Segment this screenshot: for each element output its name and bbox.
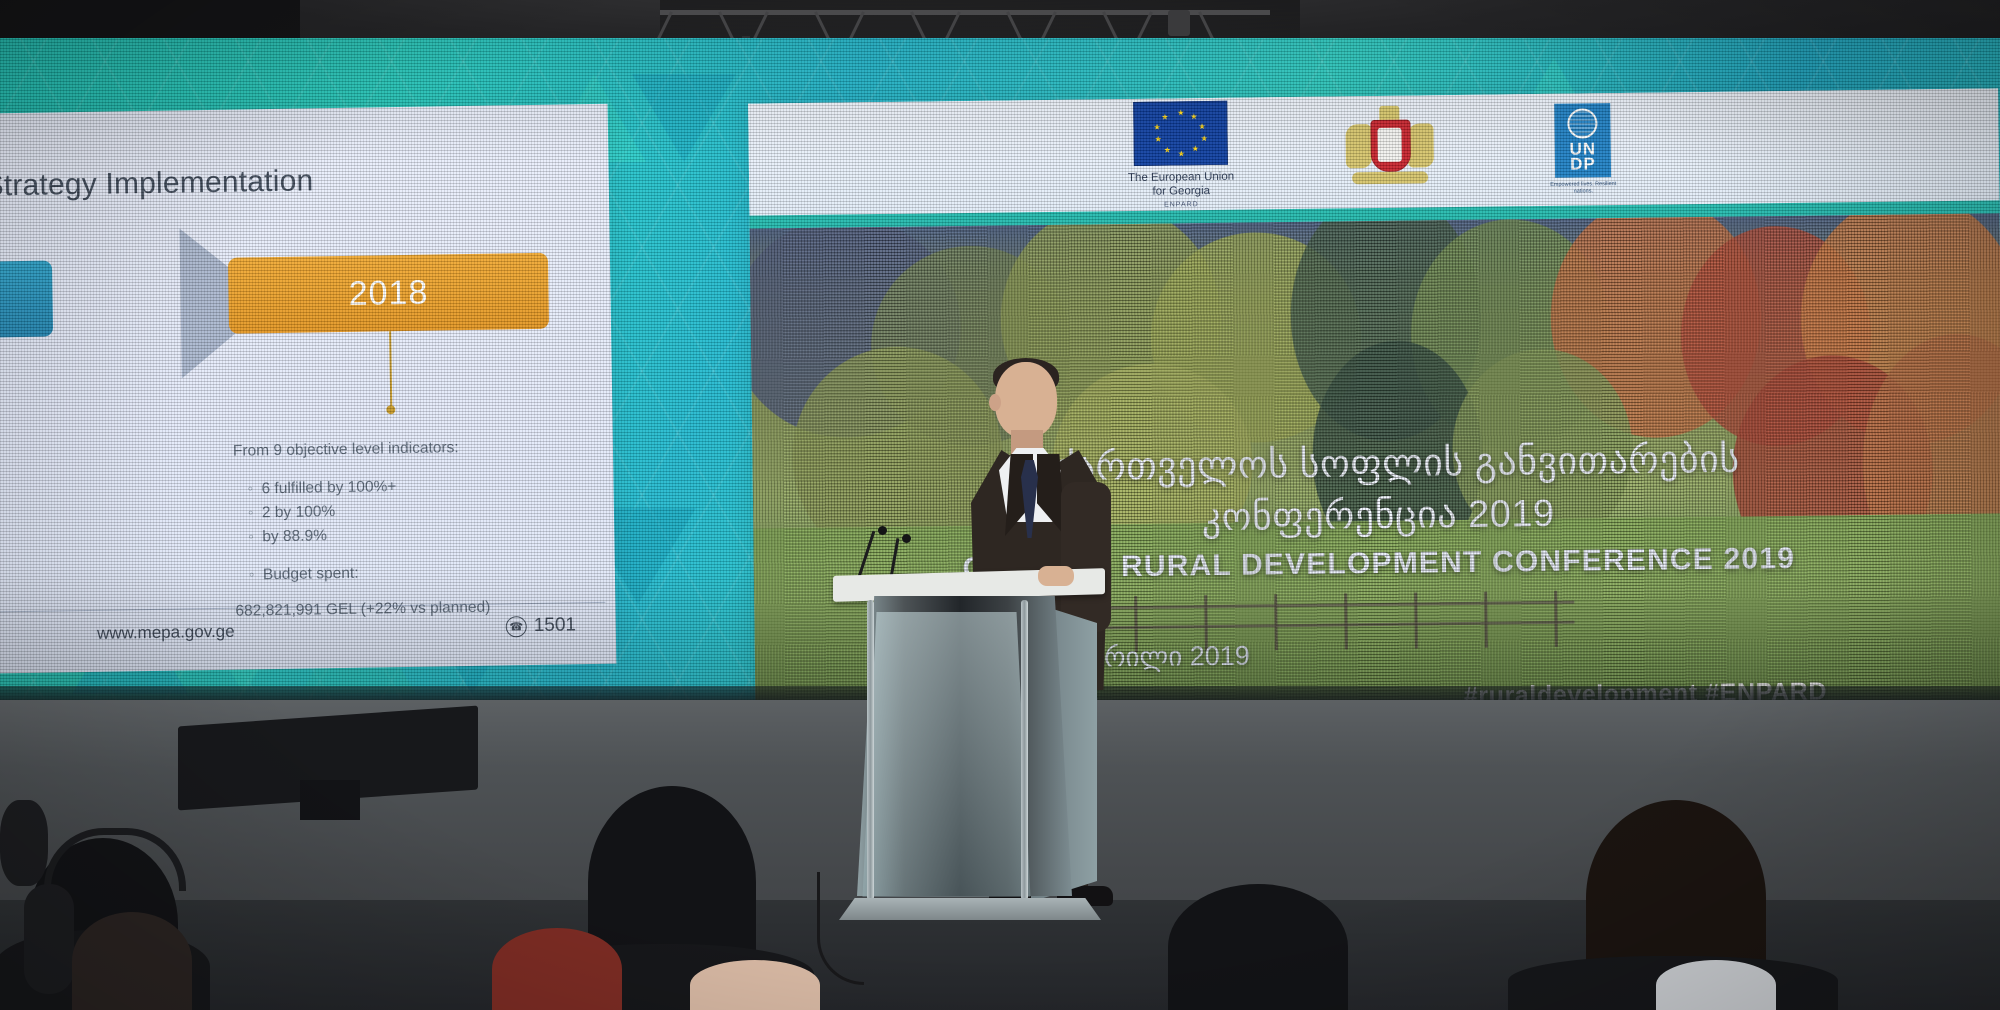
left-slide-column-2017: r level indicators: d by 100% or 100%+; … [0, 440, 216, 620]
saint-george-figure-icon [1378, 128, 1402, 162]
speaking-podium [845, 572, 1100, 942]
budget-value-2017: EL (+38.3% vs planned) [0, 590, 216, 620]
audience-arm [24, 884, 74, 994]
footer-website: www.mepa.gov.ge [0, 617, 516, 648]
speaker-hand [1038, 566, 1074, 586]
footer-phone: ☎ 1501 [506, 614, 577, 637]
eu-logo-caption: The European Union for Georgia [1128, 169, 1234, 198]
stage-monitor-stand [300, 780, 360, 820]
podium-base [839, 898, 1101, 920]
speaker-head [995, 362, 1057, 438]
undp-letters: UNDP [1569, 141, 1596, 171]
left-slide-title: ults of the Strategy Implementation [0, 164, 314, 205]
phone-icon: ☎ [506, 616, 527, 637]
pointer-stem-2018 [389, 331, 392, 407]
spotlight-icon [1168, 10, 1190, 36]
left-presentation-slide: ults of the Strategy Implementation 2017… [0, 104, 616, 676]
undp-logo: UNDP Empowered lives. Resilient nations. [1545, 103, 1620, 196]
year-badge-2018: 2018 [228, 253, 549, 334]
audience-head [690, 960, 820, 1010]
audience-collar [1656, 960, 1776, 1010]
year-badge-2017: 2017 [0, 260, 53, 341]
pointer-dot-2018 [386, 405, 395, 414]
screenshot-stage: ults of the Strategy Implementation 2017… [0, 0, 2000, 1010]
motto-ribbon [1352, 171, 1428, 184]
podium-rail [867, 600, 874, 900]
eu-logo-sub: ENPARD [1164, 201, 1199, 208]
slide-logo-header: ★ ★ ★ ★ ★ ★ ★ ★ ★ ★ The European U [748, 88, 1999, 215]
lion-figure-icon [1345, 124, 1372, 168]
col-lead: From 9 objective level indicators: [233, 434, 613, 464]
audience-head [1168, 884, 1348, 1010]
col-lead: r level indicators: [0, 440, 213, 470]
footer-phone-number: 1501 [534, 614, 577, 637]
list-item: by 88.9% [250, 520, 614, 550]
left-slide-column-2018: From 9 objective level indicators: 6 ful… [233, 434, 616, 624]
eu-flag-icon: ★ ★ ★ ★ ★ ★ ★ ★ ★ ★ [1133, 100, 1228, 165]
podium-glass-front [859, 612, 1034, 897]
podium-rail [1021, 600, 1028, 900]
lion-figure-icon [1407, 123, 1434, 167]
undp-logo-sub: Empowered lives. Resilient nations. [1546, 181, 1620, 196]
crown-icon [1379, 106, 1399, 120]
globe-icon [1567, 108, 1597, 138]
budget-label: Budget spent: [251, 558, 615, 588]
microphone-head [878, 526, 887, 535]
georgia-coat-of-arms-logo [1337, 103, 1442, 200]
audience-raised-hand [0, 800, 48, 886]
undp-emblem: UNDP [1554, 103, 1611, 178]
eu-flag-logo: ★ ★ ★ ★ ★ ★ ★ ★ ★ ★ The European U [1127, 100, 1234, 208]
list-item: lled [0, 526, 215, 556]
audience-head [72, 912, 192, 1010]
audience-shoulders [492, 928, 622, 1010]
microphone-head [902, 534, 911, 543]
speaker-ear [989, 394, 1001, 411]
